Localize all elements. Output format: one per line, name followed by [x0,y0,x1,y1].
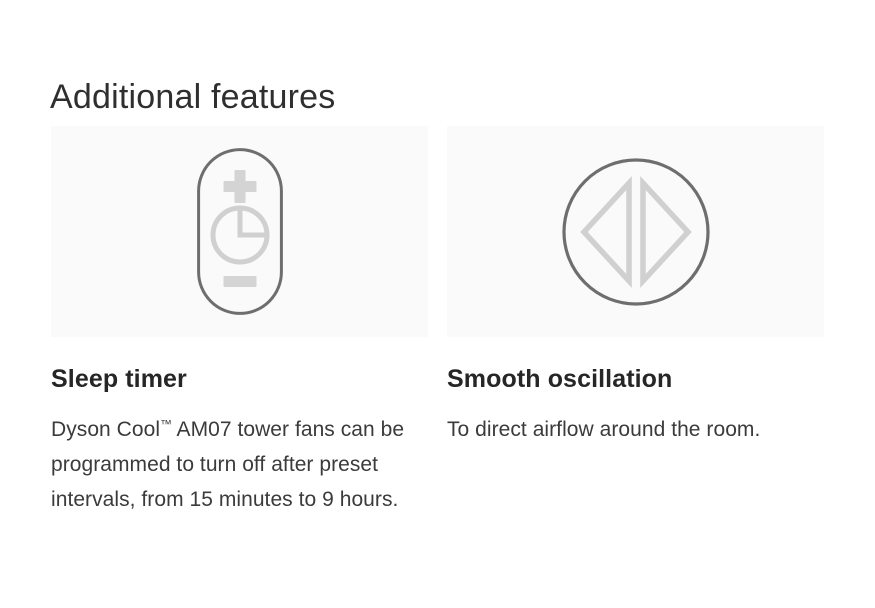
right-triangle-icon [643,183,688,281]
additional-features-page: Additional features [0,0,875,608]
trademark-symbol: ™ [160,418,172,431]
feature-card-smooth-oscillation: Smooth oscillation To direct airflow aro… [447,126,824,538]
plus-icon [223,170,256,203]
minus-icon [223,276,256,287]
left-triangle-icon [584,183,629,281]
features-grid: Sleep timer Dyson Cool™ AM07 tower fans … [51,126,825,538]
page-title: Additional features [50,76,335,119]
feature-card-sleep-timer: Sleep timer Dyson Cool™ AM07 tower fans … [51,126,428,538]
clock-icon [213,208,267,262]
feature-title-smooth-oscillation: Smooth oscillation [447,364,824,394]
feature-body-sleep-timer: Dyson Cool™ AM07 tower fans can be progr… [51,412,423,517]
oscillation-icon [561,157,711,307]
feature-media-sleep-timer [51,126,428,337]
feature-media-smooth-oscillation [447,126,824,337]
feature-body-smooth-oscillation: To direct airflow around the room. [447,412,819,447]
feature-title-sleep-timer: Sleep timer [51,364,428,394]
feature-body-text-part-1: Dyson Cool [51,418,160,441]
sleep-timer-icon [197,148,283,315]
